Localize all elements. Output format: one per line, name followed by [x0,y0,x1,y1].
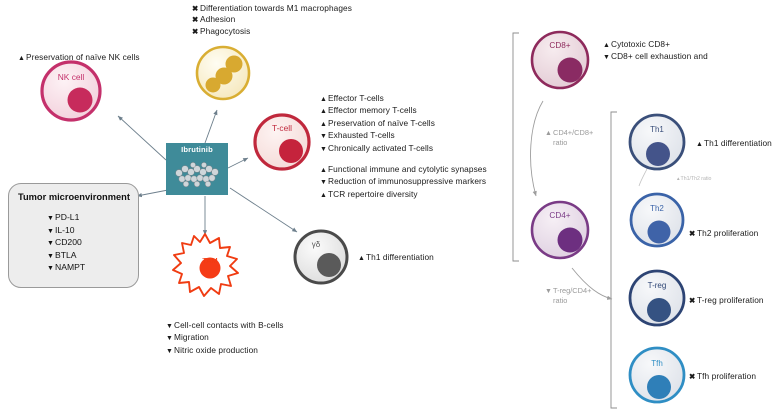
arrow-th1-th2-ratio [639,167,648,186]
up-arrow-icon [320,118,328,130]
arrow-ibrutinib-to-myeloid [205,110,217,143]
arrow-ibrutinib-to-tme [137,190,168,196]
cell-label-treg: T-reg [630,281,684,290]
up-arrow-icon [18,52,26,64]
cell-label-cd4: CD4+ [530,211,590,220]
annotation-line: Th1 differentiation [696,138,772,150]
annotation-nk: Preservation of naïve NK cells [18,52,140,64]
annotation-line: Tfh proliferation [689,371,756,382]
cross-icon [192,26,200,37]
annotation-line: Th1 differentiation [358,252,434,264]
cell-label-tcell: T-cell [252,123,312,133]
annotation-line: Exhausted T-cells [320,130,435,142]
annotation-line: CD8+ cell exhaustion and [603,51,708,63]
down-arrow-icon [47,225,55,238]
down-arrow-icon [166,332,174,344]
cell-label-tam: TAM [180,256,240,265]
down-arrow-icon [47,237,55,250]
annotation-myeloid: Differentiation towards M1 macrophages A… [192,3,352,37]
up-arrow-icon [358,252,366,264]
annotation-gamma-delta: Th1 differentiation [358,252,434,264]
ratio-th1-th2: ▲Th1/Th2 ratio [676,176,711,182]
cross-icon [689,295,697,306]
annotation-line: Preservation of naïve NK cells [18,52,140,64]
arrow-ibrutinib-to-nk [118,116,166,160]
cell-th1 [630,115,684,169]
annotation-tam: Cell-cell contacts with B-cells Migratio… [166,320,284,357]
tme-item: NAMPT [47,262,85,275]
up-arrow-icon [696,138,704,150]
tme-item: PD-L1 [47,212,85,225]
down-arrow-icon [166,320,174,332]
annotation-line: Chronically activated T-cells [320,143,435,155]
cell-label-gamma-delta: γδ [296,240,336,249]
annotation-th2: Th2 proliferation [689,228,758,239]
tme-item: CD200 [47,237,85,250]
down-arrow-icon [320,176,328,188]
annotation-line: Phagocytosis [192,26,352,37]
annotation-line: Effector memory T-cells [320,105,435,117]
tme-item: BTLA [47,250,85,263]
annotation-cd8: Cytotoxic CD8+ CD8+ cell exhaustion and [603,39,708,64]
down-arrow-icon [47,212,55,225]
annotation-line: T-reg proliferation [689,295,764,306]
cross-icon [192,14,200,25]
cross-icon [192,3,200,14]
down-arrow-icon [320,143,328,155]
ratio-cd4-cd8: CD4+/CD8+ ratio [545,128,593,147]
up-arrow-icon [603,39,611,51]
annotation-line: Differentiation towards M1 macrophages [192,3,352,14]
cell-nk [42,62,100,120]
up-arrow-icon [320,105,328,117]
cell-tam [173,234,238,296]
arrow-cd8-cd4-ratio [531,101,543,196]
annotation-th1: Th1 differentiation [696,138,772,150]
annotation-tcell-secondary: Functional immune and cytolytic synapses… [320,164,487,201]
cell-treg [630,271,684,325]
annotation-line: Functional immune and cytolytic synapses [320,164,487,176]
annotation-line: Adhesion [192,14,352,25]
tumor-microenvironment-title: Tumor microenvironment [18,192,130,202]
cell-tfh [630,348,684,402]
cell-label-th1: Th1 [630,125,684,134]
annotation-line: Th2 proliferation [689,228,758,239]
annotation-line: Reduction of immunosuppressive markers [320,176,487,188]
tme-item: IL-10 [47,225,85,238]
down-arrow-icon [47,250,55,263]
cell-label-cd8: CD8+ [530,41,590,50]
ibrutinib-molecule-icon [166,143,228,195]
annotation-line: Migration [166,332,284,344]
arrow-ibrutinib-to-tcell [228,158,248,168]
down-arrow-icon [603,51,611,63]
up-arrow-icon [320,93,328,105]
ratio-treg-cd4: T-reg/CD4+ ratio [545,286,591,305]
annotation-line: TCR repertoire diversity [320,189,487,201]
cell-label-nk: NK cell [41,72,101,82]
cell-gamma-delta [295,231,347,283]
figure-canvas: NK cell T-cell TAM γδ CD8+ CD4+ Th1 Th2 … [0,0,777,412]
annotation-line: Nitric oxide production [166,345,284,357]
cross-icon [689,371,697,382]
cell-th2 [631,194,683,246]
annotation-line: Effector T-cells [320,93,435,105]
tumor-microenvironment-box: Tumor microenvironment PD-L1 IL-10 CD200… [8,183,139,288]
bracket-cd-group [513,33,519,261]
down-arrow-icon [545,286,553,296]
bracket-cd4-subsets [611,112,617,408]
annotation-line: Cell-cell contacts with B-cells [166,320,284,332]
cell-myeloid [197,47,249,99]
cell-label-th2: Th2 [630,204,684,213]
tumor-microenvironment-items: PD-L1 IL-10 CD200 BTLA NAMPT [47,212,85,275]
cross-icon [689,228,697,239]
up-arrow-icon [545,128,553,138]
down-arrow-icon [320,130,328,142]
annotation-treg: T-reg proliferation [689,295,764,306]
up-arrow-icon [320,164,328,176]
cell-label-tfh: Tfh [630,359,684,368]
annotation-line: Cytotoxic CD8+ [603,39,708,51]
annotation-line: Preservation of naïve T-cells [320,118,435,130]
annotation-tfh: Tfh proliferation [689,371,756,382]
annotation-tcell-primary: Effector T-cells Effector memory T-cells… [320,93,435,155]
ibrutinib-node[interactable]: Ibrutinib [166,143,228,195]
up-arrow-icon [320,189,328,201]
arrow-ibrutinib-to-gd [230,188,297,232]
down-arrow-icon [47,262,55,275]
down-arrow-icon [166,345,174,357]
